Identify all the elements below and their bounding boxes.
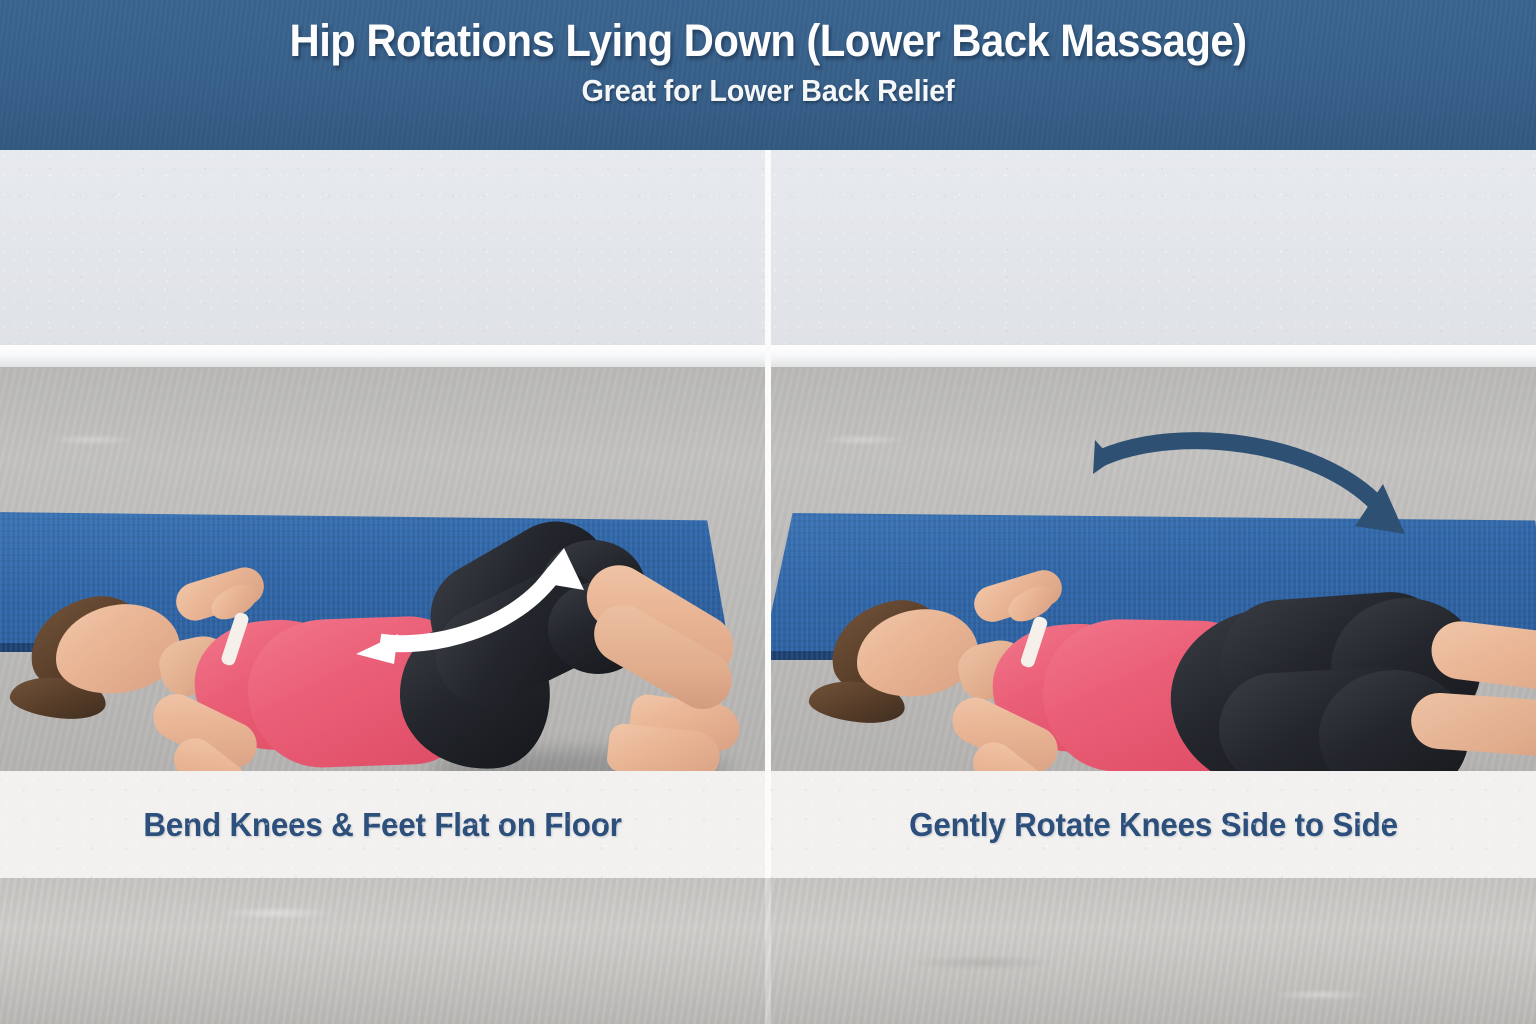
caption-rotate: Gently Rotate Knees Side to Side (790, 771, 1517, 878)
caption-divider (765, 771, 771, 878)
footer-divider (765, 878, 771, 1024)
page-title: Hip Rotations Lying Down (Lower Back Mas… (54, 18, 1482, 64)
caption-strip: Bend Knees & Feet Flat on Floor Gently R… (0, 771, 1536, 878)
exercise-infographic: Hip Rotations Lying Down (Lower Back Mas… (0, 0, 1536, 1024)
figure-start-pose (0, 150, 765, 771)
footer-strip: Hold for 5-10 Seconds Each Side Repeat 8… (0, 878, 1536, 1024)
curved-arrow-icon (1087, 418, 1447, 558)
panel-rotate-photo: ROTATE (771, 150, 1536, 771)
panel-start-photo: START (0, 150, 765, 771)
photo-row: START (0, 150, 1536, 771)
header-banner: Hip Rotations Lying Down (Lower Back Mas… (0, 0, 1536, 150)
caption-start: Bend Knees & Feet Flat on Floor (19, 771, 746, 878)
page-subtitle: Great for Lower Back Relief (54, 73, 1482, 109)
panel-divider (765, 150, 771, 771)
double-headed-curved-arrow-icon (340, 530, 640, 670)
